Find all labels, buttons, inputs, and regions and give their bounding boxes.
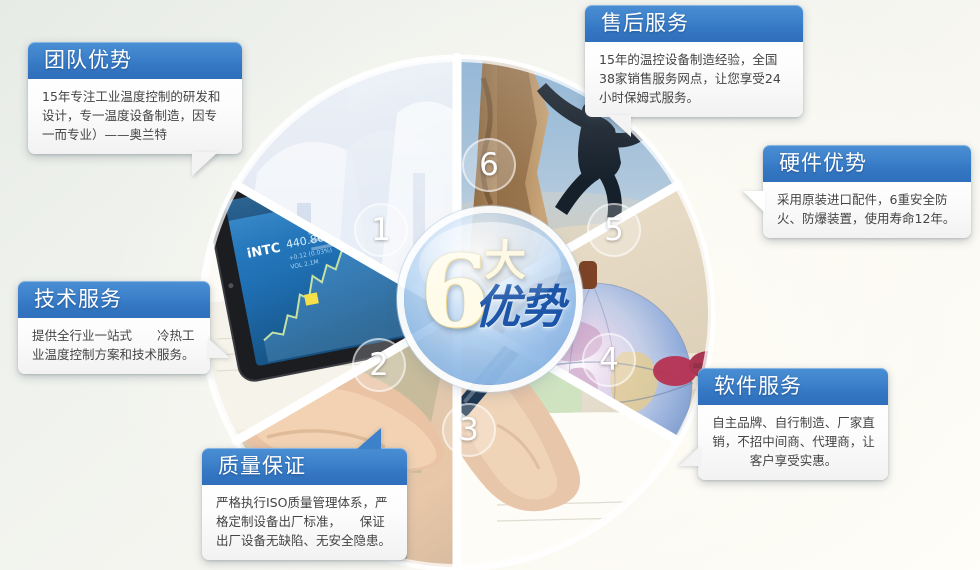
card-body-team: 15年专注工业温度控制的研发和设计，专一温度设备制造，因专一而专业）——奥兰特: [28, 79, 242, 154]
callout-tail: [679, 446, 700, 466]
callout-card-after-sales[interactable]: 售后服务 15年的温控设备制造经验，全国38家销售服务网点，让您享受24小时保姆…: [585, 5, 803, 117]
callout-card-quality[interactable]: 质量保证 严格执行ISO质量管理体系，严格定制设备出厂标准， 保证出厂设备无缺陷…: [202, 448, 407, 560]
card-body-quality: 严格执行ISO质量管理体系，严格定制设备出厂标准， 保证出厂设备无缺陷、无安全隐…: [202, 485, 407, 560]
callout-card-software[interactable]: 软件服务 自主品牌、自行制造、厂家直销，不招中间商、代理商，让客户享受实惠。: [698, 368, 888, 480]
svg-text:+0.12 (0.03%): +0.12 (0.03%): [288, 247, 333, 262]
infographic-canvas: STOCK MARKET DATA iNTC 440.86 +0.12 (0.0…: [0, 0, 980, 570]
center-medallion: 6 大 优势: [404, 213, 576, 385]
card-title-technical: 技术服务: [18, 281, 210, 318]
card-body-software: 自主品牌、自行制造、厂家直销，不招中间商、代理商，让客户享受实惠。: [698, 405, 888, 480]
callout-tail: [607, 115, 631, 137]
badge-1: 1: [354, 203, 408, 257]
center-sub-char: 优势: [474, 283, 564, 331]
callout-card-technical[interactable]: 技术服务 提供全行业一站式 冷热工业温度控制方案和技术服务。: [18, 281, 210, 374]
callout-tail: [357, 428, 381, 449]
callout-tail: [192, 152, 218, 176]
svg-text:VOL 2.1M: VOL 2.1M: [290, 259, 320, 271]
card-title-software: 软件服务: [698, 368, 888, 405]
card-title-hardware: 硬件优势: [763, 145, 971, 182]
center-big-char: 大: [484, 240, 526, 282]
badge-6: 6: [462, 138, 516, 192]
card-body-after-sales: 15年的温控设备制造经验，全国38家销售服务网点，让您享受24小时保姆式服务。: [585, 42, 803, 117]
callout-tail: [208, 338, 230, 358]
svg-text:iNTC: iNTC: [246, 241, 282, 262]
callout-card-hardware[interactable]: 硬件优势 采用原装进口配件，6重安全防火、防爆装置，使用寿命12年。: [763, 145, 971, 238]
svg-text:440.86: 440.86: [285, 231, 325, 251]
badge-4: 4: [582, 333, 636, 387]
card-body-hardware: 采用原装进口配件，6重安全防火、防爆装置，使用寿命12年。: [763, 182, 971, 238]
callout-card-team[interactable]: 团队优势 15年专注工业温度控制的研发和设计，专一温度设备制造，因专一而专业）—…: [28, 42, 242, 154]
callout-tail: [743, 191, 765, 213]
card-body-technical: 提供全行业一站式 冷热工业温度控制方案和技术服务。: [18, 318, 210, 374]
svg-text:STOCK MARKET DATA: STOCK MARKET DATA: [299, 176, 397, 204]
badge-3: 3: [442, 403, 496, 457]
badge-2: 2: [352, 338, 406, 392]
card-title-after-sales: 售后服务: [585, 5, 803, 42]
badge-5: 5: [587, 203, 641, 257]
card-title-team: 团队优势: [28, 42, 242, 79]
card-title-quality: 质量保证: [202, 448, 407, 485]
